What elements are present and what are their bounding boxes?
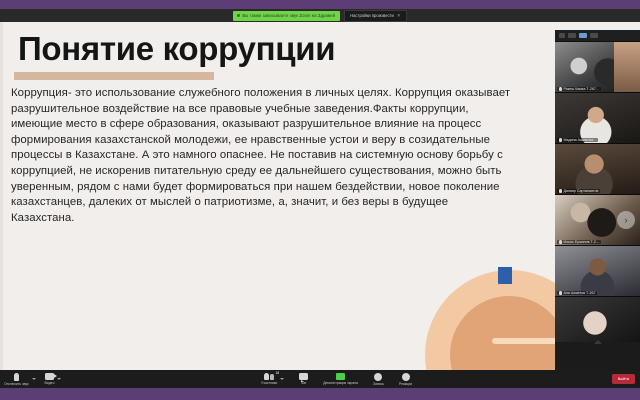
- participant-name-badge: Али Ахметов Т-267: [557, 291, 597, 295]
- participant-tiles: Ракеш Камза Т-267... Мадина Ашимова... Д…: [555, 42, 640, 342]
- chevron-up-icon[interactable]: [280, 378, 284, 380]
- participant-name-badge: Ильяс Ержанов Т-2...: [557, 240, 601, 244]
- participant-name-badge: Ракеш Камза Т-267...: [557, 87, 601, 91]
- participant-name: Ракеш Камза Т-267...: [564, 87, 599, 91]
- chevron-up-icon[interactable]: [594, 340, 602, 344]
- participant-name: Мадина Ашимова...: [564, 138, 597, 142]
- participants-label: Участники: [261, 381, 277, 385]
- participant-name: Али Ахметов Т-267: [564, 291, 596, 295]
- control-bar-center: 18 Участники Чат Демонстрация экрана Зап…: [61, 373, 611, 386]
- fullscreen-icon[interactable]: [590, 33, 598, 38]
- zoom-meeting-window: Вы также записываете звук Zoom на Здраве…: [0, 0, 640, 400]
- meeting-control-bar: Отключить звук Видео 18 Участники: [0, 370, 640, 388]
- record-label: Запись: [373, 382, 384, 386]
- mic-icon: [559, 87, 562, 91]
- microphone-icon: [14, 373, 19, 381]
- participants-button[interactable]: 18 Участники: [261, 373, 284, 385]
- participant-tile[interactable]: › Ильяс Ержанов Т-2...: [555, 195, 640, 246]
- participant-tile[interactable]: Аружан Т-267: [555, 297, 640, 342]
- reactions-label: Реакции: [399, 382, 412, 386]
- chevron-up-icon[interactable]: [32, 378, 36, 380]
- chevron-up-icon[interactable]: [57, 378, 61, 380]
- mute-label: Отключить звук: [4, 382, 29, 386]
- control-bar-left: Отключить звук Видео: [0, 373, 61, 386]
- chat-icon: [299, 373, 308, 380]
- mic-icon: [559, 240, 562, 244]
- slide-title: Понятие коррупции: [18, 30, 335, 68]
- participant-name: Данияр Сартанаятов: [564, 189, 599, 193]
- mic-icon: [559, 138, 562, 142]
- notification-settings-label: Настройки произвести: [350, 12, 394, 20]
- mic-icon: [559, 189, 562, 193]
- share-screen-button[interactable]: Демонстрация экрана: [323, 373, 358, 385]
- participants-icon: 18: [264, 373, 274, 380]
- mute-button[interactable]: Отключить звук: [4, 373, 36, 386]
- speaker-view-icon[interactable]: [568, 33, 576, 38]
- video-label: Видео: [45, 381, 55, 385]
- recording-notice-label: Вы также записываете звук Zoom на Здраве…: [242, 12, 335, 20]
- filmstrip-toolbar[interactable]: [555, 30, 640, 42]
- recording-notice: Вы также записываете звук Zoom на Здраве…: [233, 11, 340, 21]
- record-button[interactable]: Запись: [373, 373, 384, 386]
- window-bottom-strip: [0, 388, 640, 400]
- mic-icon: [559, 291, 562, 295]
- chat-button[interactable]: Чат: [299, 373, 308, 385]
- next-page-arrow-icon[interactable]: ›: [617, 211, 635, 229]
- participant-video: [614, 42, 640, 92]
- decorative-streak: [492, 338, 562, 344]
- participants-count: 18: [276, 371, 280, 375]
- record-dot-icon: [237, 14, 240, 17]
- participant-tile[interactable]: Али Ахметов Т-267: [555, 246, 640, 297]
- participant-name-badge: Мадина Ашимова...: [557, 138, 598, 142]
- participant-filmstrip[interactable]: Ракеш Камза Т-267... Мадина Ашимова... Д…: [555, 30, 640, 378]
- leave-meeting-button[interactable]: Выйти: [612, 374, 635, 384]
- window-top-strip: [0, 0, 640, 9]
- close-icon[interactable]: ✕: [397, 12, 401, 20]
- share-screen-label: Демонстрация экрана: [323, 381, 358, 385]
- reactions-button[interactable]: Реакции: [399, 373, 412, 386]
- video-button[interactable]: Видео: [45, 373, 62, 385]
- minimize-icon[interactable]: [559, 33, 565, 38]
- share-screen-icon: [336, 373, 345, 380]
- participant-name-badge: Данияр Сартанаятов: [557, 189, 600, 193]
- record-icon: [374, 373, 382, 381]
- notification-settings-button[interactable]: Настройки произвести ✕: [344, 10, 407, 22]
- slide-left-edge: [0, 22, 3, 370]
- participant-name: Ильяс Ержанов Т-2...: [564, 240, 599, 244]
- slide-body-text: Коррупция- это использование служебного …: [11, 86, 511, 226]
- control-bar-right: Выйти: [612, 374, 640, 384]
- shared-screen-slide: Понятие коррупции Коррупция- это использ…: [0, 22, 640, 370]
- participant-tile[interactable]: Данияр Сартанаятов: [555, 144, 640, 195]
- participant-tile[interactable]: Ракеш Камза Т-267...: [555, 42, 640, 93]
- decorative-blue-square: [498, 267, 512, 284]
- mute-button-inner[interactable]: Отключить звук: [4, 373, 29, 386]
- recording-notification-bar: Вы также записываете звук Zoom на Здраве…: [0, 9, 640, 22]
- camera-icon: [45, 373, 54, 380]
- participants-button-inner[interactable]: 18 Участники: [261, 373, 277, 385]
- slide-paragraph: Коррупция- это использование служебного …: [11, 86, 511, 226]
- participant-tile[interactable]: Мадина Ашимова...: [555, 93, 640, 144]
- reactions-icon: [402, 373, 410, 381]
- video-button-inner[interactable]: Видео: [45, 373, 55, 385]
- title-underline-bar: [14, 72, 214, 80]
- gallery-view-icon[interactable]: [579, 33, 587, 38]
